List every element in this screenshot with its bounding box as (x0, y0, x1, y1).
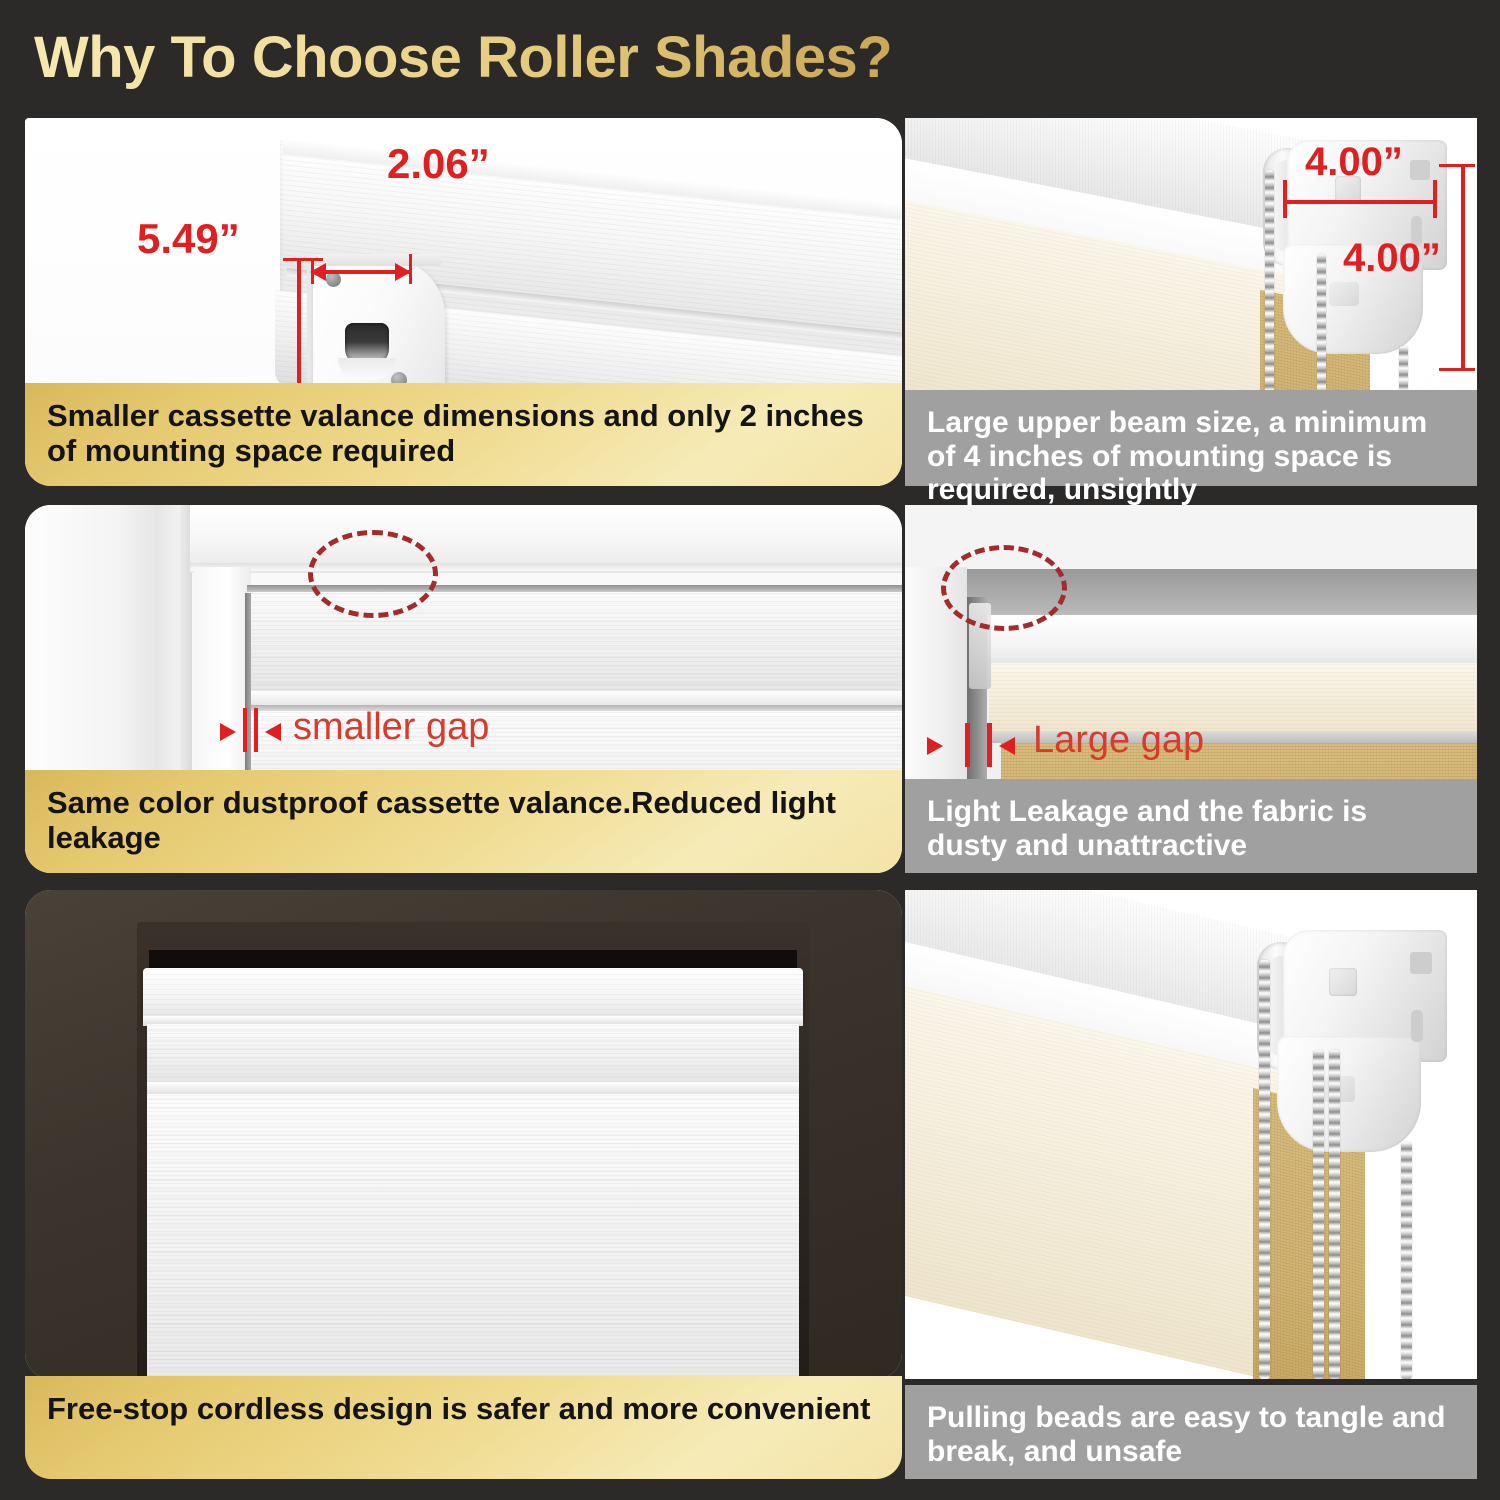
dimension-tick-h1 (283, 258, 323, 261)
gap-tick-1 (965, 723, 970, 767)
page-title: Why To Choose Roller Shades? (34, 24, 892, 91)
gap-tick-2 (987, 723, 992, 767)
bead-chain (1259, 960, 1270, 1379)
caption-text: Pulling beads are easy to tangle and bre… (927, 1401, 1455, 1468)
gap-tick-1 (243, 708, 247, 752)
dimension-label-width: 4.00” (1305, 140, 1403, 185)
caption-text: Free-stop cordless design is safer and m… (47, 1392, 870, 1427)
bead-chain (1313, 1050, 1324, 1379)
dimension-line-height (1461, 166, 1465, 371)
gap-label-large: Large gap (1033, 719, 1204, 762)
dimension-label-width: 2.06” (387, 140, 490, 188)
dimension-arrow-right (395, 263, 411, 281)
caption-con-light-leakage: Light Leakage and the fabric is dusty an… (905, 779, 1477, 873)
panel-con-pulling-beads (905, 890, 1477, 1379)
caption-text: Large upper beam size, a minimum of 4 in… (927, 406, 1455, 507)
gap-arrow-left (927, 737, 943, 755)
dimension-tick-w1 (1283, 180, 1287, 218)
bead-chain (1329, 1050, 1340, 1379)
dimension-tick-w2 (1433, 180, 1437, 218)
photo-bead-chain-shade (905, 890, 1477, 1379)
dimension-tick-h2 (1439, 368, 1475, 371)
panel-pro-cordless-design (25, 890, 902, 1379)
caption-con-pulling-beads: Pulling beads are easy to tangle and bre… (905, 1385, 1477, 1479)
infographic-root: Why To Choose Roller Shades? (0, 0, 1500, 1500)
dimension-line-width (1285, 200, 1435, 204)
gap-arrow-right (265, 723, 281, 741)
caption-text: Light Leakage and the fabric is dusty an… (927, 795, 1455, 862)
caption-text: Same color dustproof cassette valance.Re… (47, 786, 880, 855)
highlight-ellipse-gap (941, 545, 1067, 631)
gap-arrow-right (999, 737, 1015, 755)
dimension-tick-h1 (1439, 164, 1475, 167)
dimension-arrow-left (310, 263, 326, 281)
caption-con-beam-size: Large upper beam size, a minimum of 4 in… (905, 390, 1477, 486)
gap-arrow-left (220, 723, 236, 741)
caption-pro-cordless-design: Free-stop cordless design is safer and m… (25, 1376, 902, 1479)
gap-label-smaller: smaller gap (293, 706, 489, 749)
caption-pro-cassette-size: Smaller cassette valance dimensions and … (25, 383, 902, 486)
bead-chain (1401, 1142, 1412, 1379)
caption-pro-dustproof-valance: Same color dustproof cassette valance.Re… (25, 770, 902, 873)
dimension-label-height: 5.49” (137, 215, 240, 263)
caption-text: Smaller cassette valance dimensions and … (47, 399, 880, 468)
photo-room-window (25, 890, 902, 1379)
gap-tick-2 (254, 708, 258, 752)
highlight-ellipse-gap (308, 530, 438, 618)
dimension-label-height: 4.00” (1343, 236, 1441, 281)
